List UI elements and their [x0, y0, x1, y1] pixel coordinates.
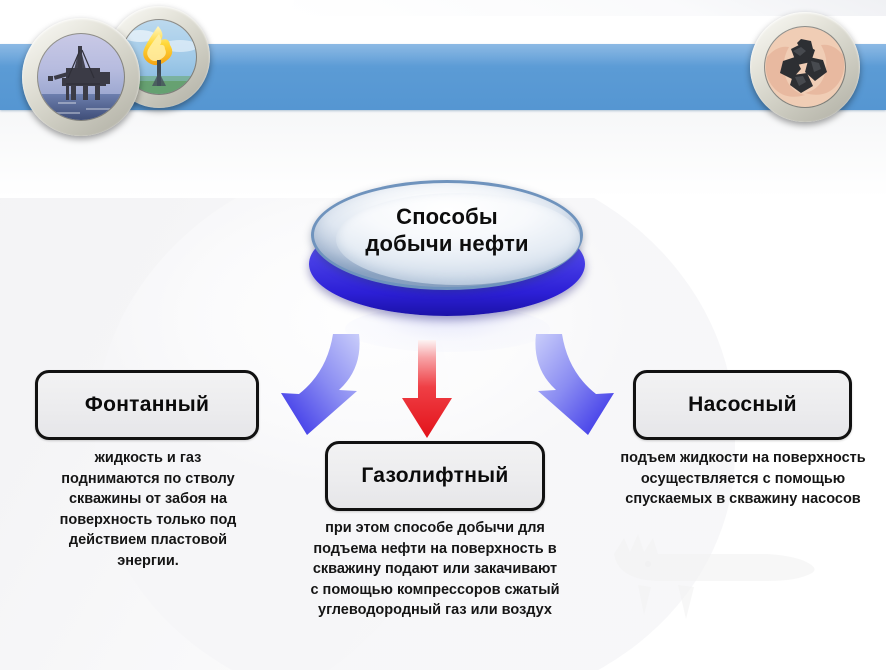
oil-rig-photo-lens — [38, 34, 124, 120]
branch-description-fontanny: жидкость и газ поднимаются по стволу скв… — [52, 448, 244, 571]
coal-in-hands-photo-lens — [765, 27, 845, 107]
branch-description-nasosny: подъем жидкости на поверхность осуществл… — [612, 448, 874, 510]
branch-title-nasosny: Насосный — [688, 393, 797, 417]
branch-box-gazolift[interactable]: Газолифтный — [325, 441, 545, 511]
branch-title-gazolift: Газолифтный — [361, 464, 508, 488]
arrow-down-icon — [398, 340, 456, 440]
central-node-title-line-2: добычи нефти — [303, 231, 591, 258]
coal-in-hands-photo — [750, 12, 860, 122]
branch-box-fontanny[interactable]: Фонтанный — [35, 370, 259, 440]
oil-rig-photo — [22, 18, 140, 136]
branch-description-gazolift: при этом способе добычи для подъема нефт… — [310, 518, 560, 621]
central-node-title-line-1: Способы — [303, 204, 591, 231]
central-node-title: Способы добычи нефти — [303, 204, 591, 258]
arrow-right-icon — [530, 332, 640, 437]
arrow-left-icon — [255, 332, 365, 437]
central-node: Способы добычи нефти — [303, 178, 591, 326]
slide-canvas: Способы добычи нефти — [0, 0, 886, 670]
branch-box-nasosny[interactable]: Насосный — [633, 370, 852, 440]
branch-title-fontanny: Фонтанный — [85, 393, 209, 417]
